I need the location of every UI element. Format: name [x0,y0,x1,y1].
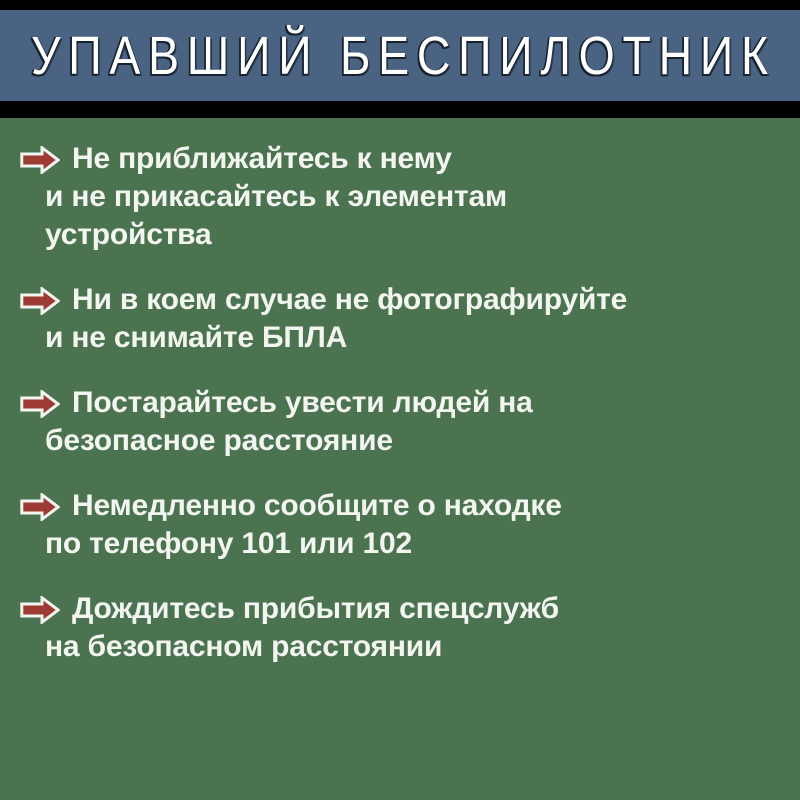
tip-line: Дождитесь прибытия спецслужб [20,590,790,628]
tip-line: Ни в коем случае не фотографируйте [20,281,790,319]
tip-line: на безопасном расстоянии [20,628,790,666]
right-arrow-icon [20,287,60,315]
tip-line: и не снимайте БПЛА [20,319,790,357]
right-arrow-icon [20,390,60,418]
header-band: УПАВШИЙ БЕСПИЛОТНИК [0,10,800,101]
tip-item: Ни в коем случае не фотографируйте и не … [0,281,800,357]
right-arrow-icon [20,493,60,521]
right-arrow-icon [20,596,60,624]
tip-line: Постарайтесь увести людей на [20,384,790,422]
tip-line: устройства [20,216,790,254]
tips-list: Не приближайтесь к нему и не прикасайтес… [0,118,800,800]
tip-item: Не приближайтесь к нему и не прикасайтес… [0,140,800,254]
tip-line: Не приближайтесь к нему [20,140,790,178]
tip-item: Немедленно сообщите о находке по телефон… [0,487,800,563]
page-title: УПАВШИЙ БЕСПИЛОТНИК [24,29,777,83]
tip-line: Немедленно сообщите о находке [20,487,790,525]
tip-item: Дождитесь прибытия спецслужб на безопасн… [0,590,800,666]
poster-root: УПАВШИЙ БЕСПИЛОТНИК Не приближайтесь к н… [0,0,800,800]
tip-line: и не прикасайтесь к элементам [20,178,790,216]
header-top-divider [0,0,800,10]
right-arrow-icon [20,146,60,174]
tip-line: по телефону 101 или 102 [20,525,790,563]
tip-item: Постарайтесь увести людей на безопасное … [0,384,800,460]
tip-line: безопасное расстояние [20,422,790,460]
header-bottom-divider [0,101,800,118]
